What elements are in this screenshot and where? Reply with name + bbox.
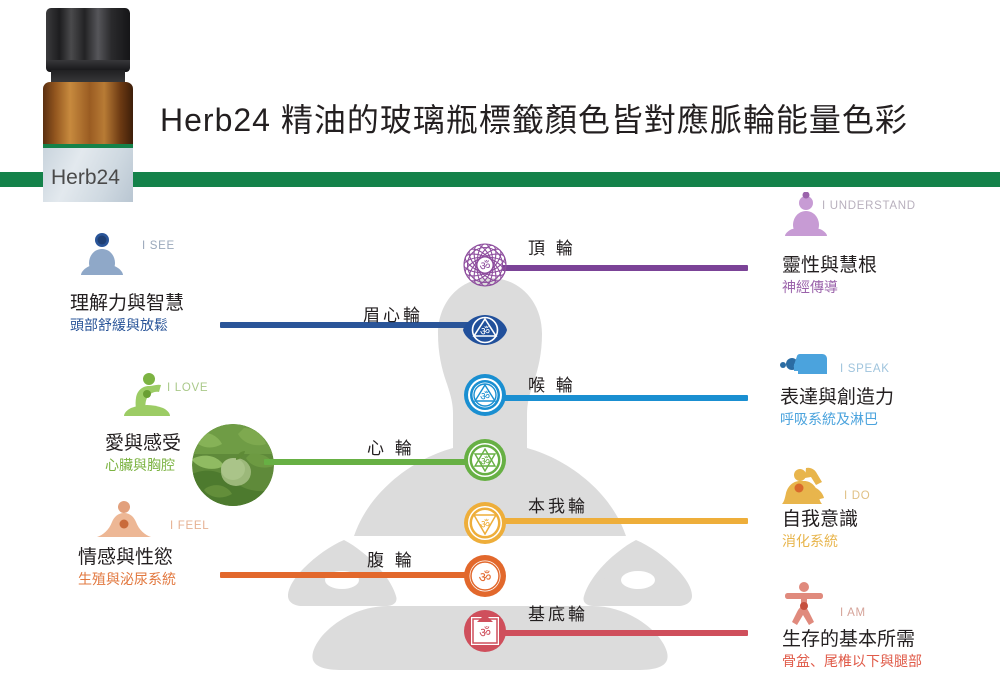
connector-line-solar-plexus	[502, 518, 748, 524]
right-sub-throat: 呼吸系統及淋巴	[780, 409, 878, 429]
right-main-throat: 表達與創造力	[780, 382, 894, 409]
meditating-figure-icon	[782, 192, 838, 238]
svg-text:ॐ: ॐ	[480, 259, 491, 273]
bowing-figure-icon	[96, 498, 152, 544]
svg-text:ॐ: ॐ	[480, 390, 490, 403]
left-sub-sacral: 生殖與泌尿系統	[78, 569, 176, 589]
left-mantra-i-see: I SEE	[142, 240, 175, 252]
svg-text:ॐ: ॐ	[480, 325, 490, 338]
third-eye-lotus-icon: ॐ	[462, 307, 508, 353]
connector-line-sacral	[220, 572, 470, 578]
connector-line-third-eye	[220, 322, 470, 328]
svg-text:ॐ: ॐ	[479, 626, 491, 641]
right-main-crown: 靈性與慧根	[782, 250, 877, 277]
left-sub-heart: 心臟與胸腔	[105, 455, 175, 475]
right-main-root: 生存的基本所需	[782, 624, 915, 651]
left-main-heart: 愛與感受	[105, 428, 181, 455]
right-main-solar-plexus: 自我意識	[782, 504, 858, 531]
svg-text:ॐ: ॐ	[479, 570, 492, 586]
chakra-name-sacral: 腹 輪	[367, 546, 415, 571]
root-lotus-icon: ॐ	[462, 608, 508, 654]
right-mantra-i-speak: I SPEAK	[840, 363, 890, 375]
left-main-third-eye: 理解力與智慧	[70, 288, 184, 315]
chakra-name-throat: 喉 輪	[528, 371, 576, 396]
right-sub-solar-plexus: 消化系統	[782, 531, 838, 551]
connector-line-root	[502, 630, 748, 636]
right-sub-root: 骨盆、尾椎以下與腿部	[782, 651, 922, 671]
sacral-lotus-icon: ॐ	[462, 553, 508, 599]
chakra-name-third-eye: 眉心輪	[363, 301, 423, 326]
left-main-sacral: 情感與性慾	[78, 542, 173, 569]
heart-lotus-icon: ॐ	[462, 437, 508, 483]
right-mantra-i-understand: I UNDERSTAND	[822, 200, 916, 212]
right-mantra-i-do: I DO	[844, 490, 870, 502]
svg-text:ॐ: ॐ	[480, 455, 490, 468]
throat-lotus-icon: ॐ	[462, 372, 508, 418]
standing-figure-icon	[782, 582, 838, 628]
chakra-name-crown: 頂 輪	[528, 234, 576, 259]
svg-text:ॐ: ॐ	[480, 518, 490, 531]
crown-lotus-icon: ॐ	[462, 242, 508, 288]
meditating-figure-icon	[80, 232, 136, 278]
infographic-stage: Herb24 Herb24 精油的玻璃瓶標籤顏色皆對應脈輪能量色彩	[0, 0, 1000, 700]
chakra-name-root: 基底輪	[528, 600, 588, 625]
right-sub-crown: 神經傳導	[782, 277, 838, 297]
left-mantra-i-love: I LOVE	[167, 382, 208, 394]
right-mantra-i-am: I AM	[840, 607, 866, 619]
reaching-figure-icon	[123, 372, 179, 418]
connector-line-crown	[502, 265, 748, 271]
chakra-name-solar-plexus: 本我輪	[528, 492, 588, 517]
chakra-column: 頂 輪 眉心輪 喉 輪 心 輪 本我輪 腹 輪 基底輪	[0, 0, 1000, 700]
left-sub-third-eye: 頭部舒緩與放鬆	[70, 315, 168, 335]
solar-plexus-lotus-icon: ॐ	[462, 500, 508, 546]
left-mantra-i-feel: I FEEL	[170, 520, 209, 532]
chakra-name-heart: 心 輪	[367, 434, 415, 459]
connector-line-heart	[264, 459, 470, 465]
